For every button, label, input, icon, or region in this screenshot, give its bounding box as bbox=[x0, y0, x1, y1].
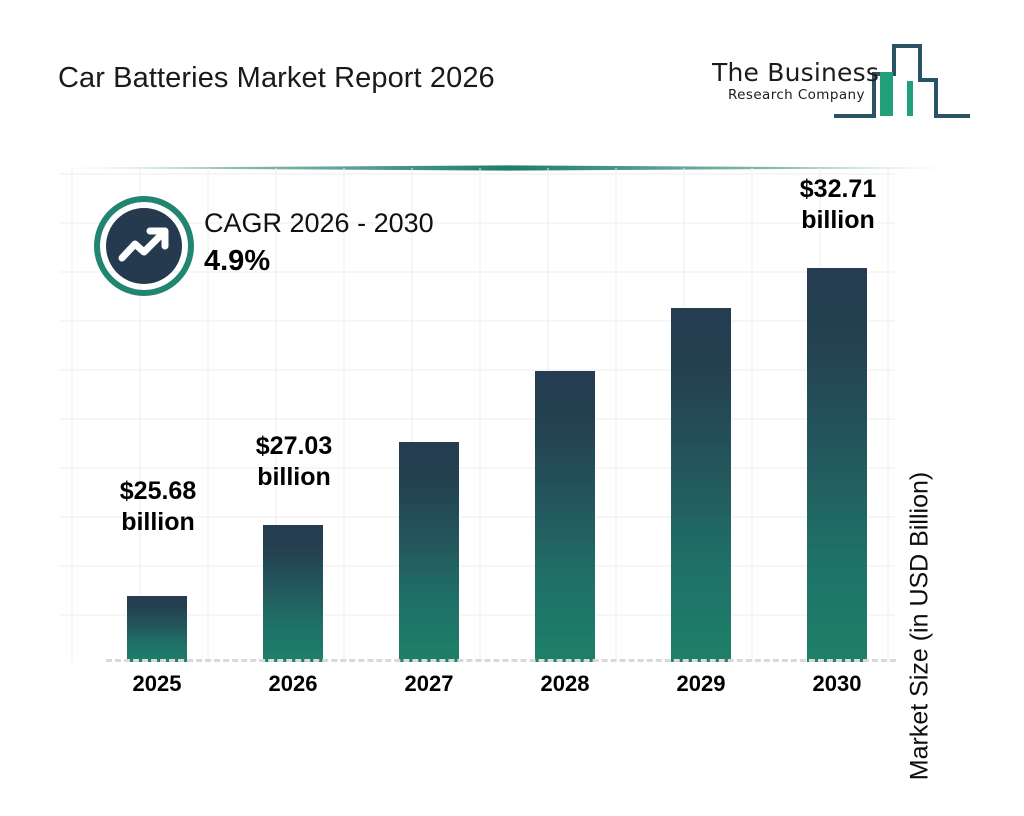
bar-label-2030: $32.71 billion bbox=[777, 174, 899, 236]
bar-label-2030-unit: billion bbox=[777, 205, 899, 236]
bar-label-2025: $25.68 billion bbox=[97, 476, 219, 538]
bar-label-2026: $27.03 billion bbox=[233, 431, 355, 493]
bar-2025[interactable] bbox=[127, 596, 187, 662]
x-tick-2030: 2030 bbox=[777, 671, 897, 697]
bar-label-2026-unit: billion bbox=[233, 462, 355, 493]
cagr-text-block: CAGR 2026 - 2030 4.9% bbox=[204, 206, 434, 279]
bar-2028[interactable] bbox=[535, 371, 595, 662]
cagr-period-label: CAGR 2026 - 2030 bbox=[204, 206, 434, 240]
bar-label-2026-value: $27.03 bbox=[233, 431, 355, 462]
y-axis-title-text: Market Size (in USD Billion) bbox=[906, 472, 935, 780]
logo-line-1: The Business bbox=[712, 60, 872, 86]
logo-wordmark: The Business Research Company bbox=[712, 60, 872, 103]
cagr-callout: CAGR 2026 - 2030 4.9% bbox=[94, 196, 514, 312]
cagr-value-label: 4.9% bbox=[204, 243, 434, 279]
y-axis-title: Market Size (in USD Billion) bbox=[898, 436, 942, 816]
header-divider bbox=[48, 158, 968, 164]
x-tick-2025: 2025 bbox=[97, 671, 217, 697]
x-axis: 2025 2026 2027 2028 2029 2030 bbox=[60, 671, 895, 711]
bar-label-2025-unit: billion bbox=[97, 507, 219, 538]
bar-2030[interactable] bbox=[807, 268, 867, 662]
x-tick-2027: 2027 bbox=[369, 671, 489, 697]
bar-2027[interactable] bbox=[399, 442, 459, 662]
page-title: Car Batteries Market Report 2026 bbox=[58, 62, 495, 95]
axis-baseline bbox=[106, 659, 896, 662]
logo-line-2: Research Company bbox=[728, 87, 872, 103]
x-tick-2028: 2028 bbox=[505, 671, 625, 697]
bar-2026[interactable] bbox=[263, 525, 323, 662]
x-tick-2029: 2029 bbox=[641, 671, 761, 697]
header: Car Batteries Market Report 2026 The Bus… bbox=[0, 0, 1024, 150]
company-logo: The Business Research Company bbox=[712, 36, 977, 122]
bar-label-2025-value: $25.68 bbox=[97, 476, 219, 507]
bar-label-2030-value: $32.71 bbox=[777, 174, 899, 205]
bar-2029[interactable] bbox=[671, 308, 731, 662]
trend-up-arrow-icon bbox=[94, 196, 194, 296]
x-tick-2026: 2026 bbox=[233, 671, 353, 697]
